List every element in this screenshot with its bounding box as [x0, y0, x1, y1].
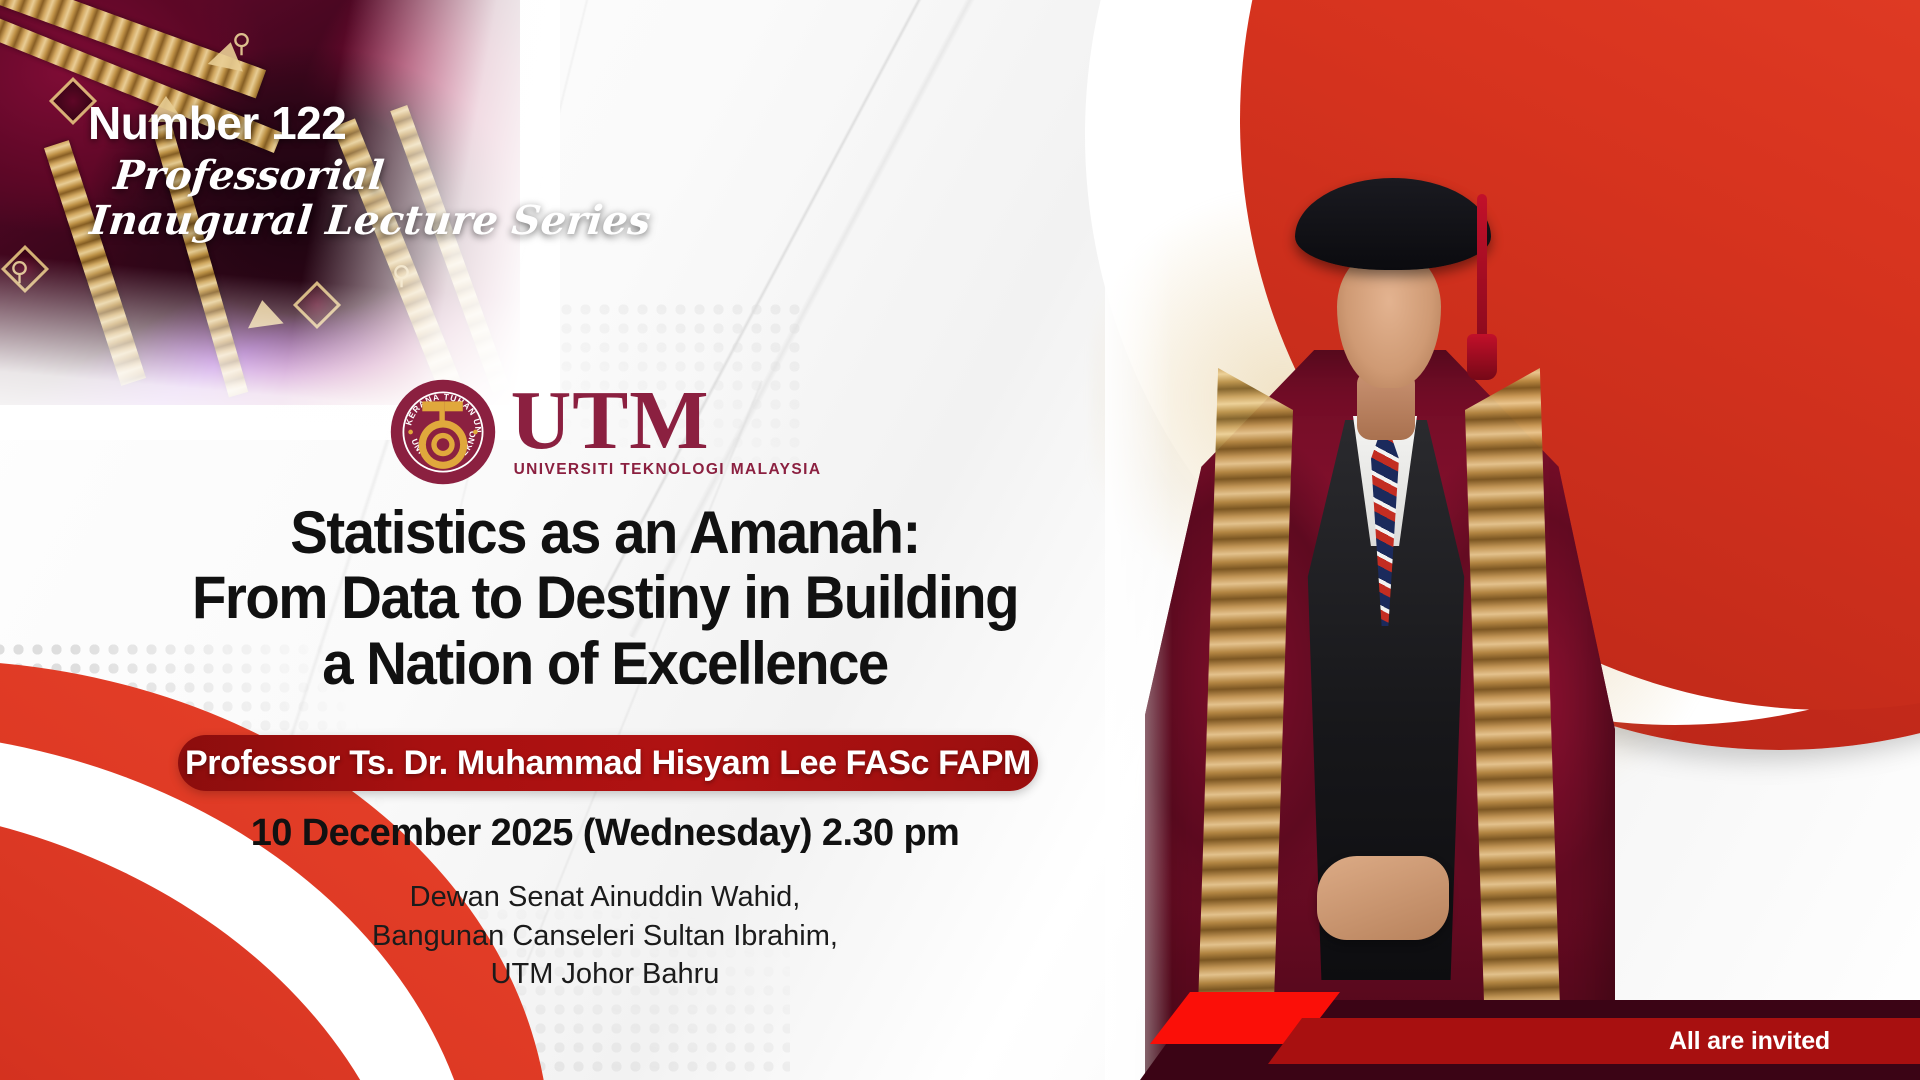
utm-symbol-glyph-2: ⚲ [10, 258, 29, 284]
speaker-name-banner: Professor Ts. Dr. Muhammad Hisyam Lee FA… [178, 735, 1038, 791]
lecture-number: Number 122 [88, 96, 650, 150]
utm-wordmark-text: UTM [511, 385, 710, 457]
utm-symbol-glyph-1: ⚲ [232, 30, 251, 56]
invitation-banner: All are invited [1268, 1018, 1920, 1064]
venue-line-1: Dewan Senat Ainuddin Wahid, [0, 878, 1210, 917]
series-line-2: Inaugural Lecture Series [86, 199, 653, 244]
invitation-text: All are invited [1669, 1027, 1830, 1056]
utm-wordmark: UTM UNIVERSITI TEKNOLOGI MALAYSIA [511, 385, 822, 479]
utm-crest-icon: KERANA TUHAN UNTUK MANUSIA UNIVERSITI TE… [389, 378, 497, 486]
lecture-title-line-1: Statistics as an Amanah: [36, 500, 1173, 565]
utm-wordmark-subtitle: UNIVERSITI TEKNOLOGI MALAYSIA [511, 461, 822, 479]
venue-line-3: UTM Johor Bahru [0, 955, 1210, 994]
event-datetime: 10 December 2025 (Wednesday) 2.30 pm [0, 812, 1210, 855]
event-venue: Dewan Senat Ainuddin Wahid, Bangunan Can… [0, 878, 1210, 994]
lecture-title-line-3: a Nation of Excellence [36, 631, 1173, 696]
series-line-1: Professorial [86, 154, 653, 199]
lecture-title-line-2: From Data to Destiny in Building [36, 565, 1173, 630]
event-poster: ⚲ ⚲ ⚲ Number 122 Professorial Inaugural … [0, 0, 1920, 1080]
lecture-title: Statistics as an Amanah: From Data to De… [36, 500, 1173, 696]
utm-symbol-glyph-3: ⚲ [392, 262, 411, 288]
venue-line-2: Bangunan Canseleri Sultan Ibrahim, [0, 917, 1210, 956]
masthead: Number 122 Professorial Inaugural Lectur… [88, 96, 650, 244]
utm-logo: KERANA TUHAN UNTUK MANUSIA UNIVERSITI TE… [0, 378, 1210, 486]
speaker-name: Professor Ts. Dr. Muhammad Hisyam Lee FA… [185, 744, 1031, 783]
